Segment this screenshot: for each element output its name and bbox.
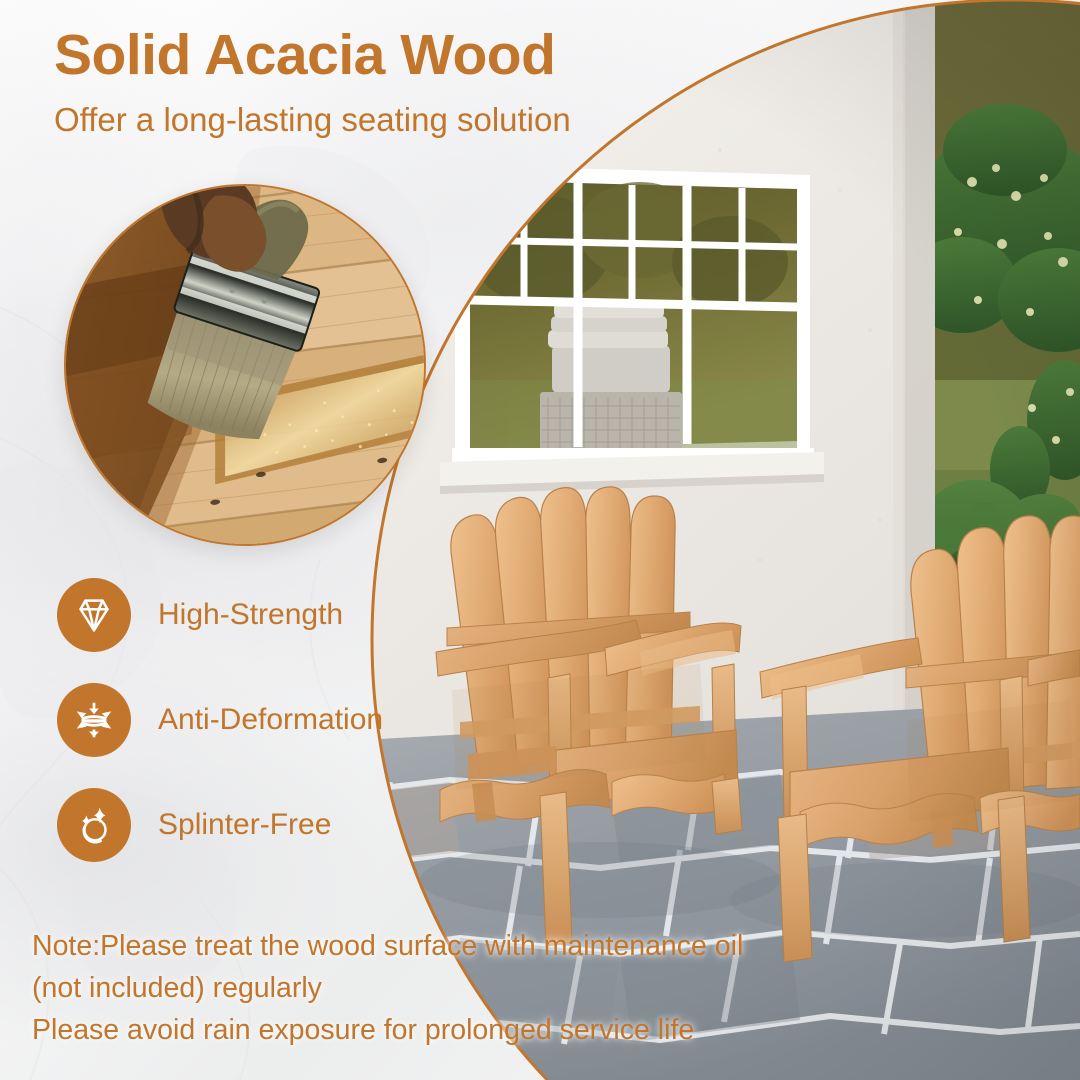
feature-list: High-Strength — [57, 578, 383, 893]
note-line: (not included) regularly — [32, 967, 1072, 1009]
feature-label: Splinter-Free — [158, 808, 331, 842]
sparkle-ring-icon — [57, 788, 131, 862]
compression-arrows-icon — [57, 683, 131, 757]
page-title: Solid Acacia Wood — [54, 26, 555, 86]
note-line: Note:Please treat the wood surface with … — [32, 925, 1072, 967]
wood-oiling-inset-photo — [64, 184, 426, 546]
feature-item-splinter-free: Splinter-Free — [57, 788, 383, 862]
promo-banner: Solid Acacia Wood Offer a long-lasting s… — [0, 0, 1080, 1080]
feature-item-anti-deformation: Anti-Deformation — [57, 683, 383, 757]
feature-label: Anti-Deformation — [158, 703, 383, 737]
maintenance-notes: Note:Please treat the wood surface with … — [32, 925, 1072, 1051]
diamond-icon — [57, 578, 131, 652]
feature-item-high-strength: High-Strength — [57, 578, 383, 652]
page-subtitle: Offer a long-lasting seating solution — [54, 100, 571, 140]
feature-label: High-Strength — [158, 598, 343, 632]
note-line: Please avoid rain exposure for prolonged… — [32, 1009, 1072, 1051]
